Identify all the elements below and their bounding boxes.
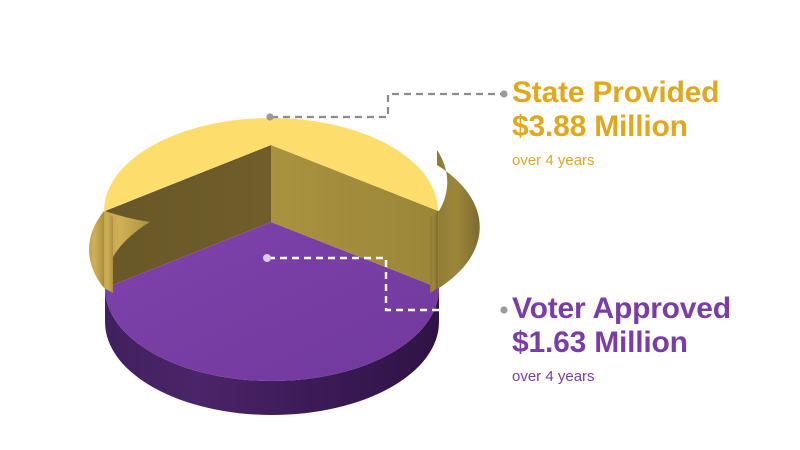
gold-skirt-left xyxy=(104,211,113,293)
callout-voter-note: over 4 years xyxy=(512,368,731,386)
infographic-canvas: State Provided $3.88 Million over 4 year… xyxy=(0,0,800,450)
callout-state-provided: State Provided $3.88 Million over 4 year… xyxy=(512,76,719,170)
callout-voter-approved: Voter Approved $1.63 Million over 4 year… xyxy=(512,292,731,386)
gold-skirt-right xyxy=(430,211,438,293)
callout-state-note: over 4 years xyxy=(512,152,719,170)
callout-state-title: State Provided xyxy=(512,76,719,110)
leader-dot-state-origin xyxy=(266,113,273,120)
leader-dot-voter-end xyxy=(500,306,507,313)
gold-outer-wall-right xyxy=(437,150,480,288)
callout-state-value: $3.88 Million xyxy=(512,110,719,144)
leader-dot-state-end xyxy=(500,90,507,97)
callout-voter-title: Voter Approved xyxy=(512,292,731,326)
gold-rim-band xyxy=(89,211,104,288)
leader-dot-voter-origin xyxy=(263,254,271,262)
leader-line-state xyxy=(266,90,507,120)
callout-voter-value: $1.63 Million xyxy=(512,326,731,360)
